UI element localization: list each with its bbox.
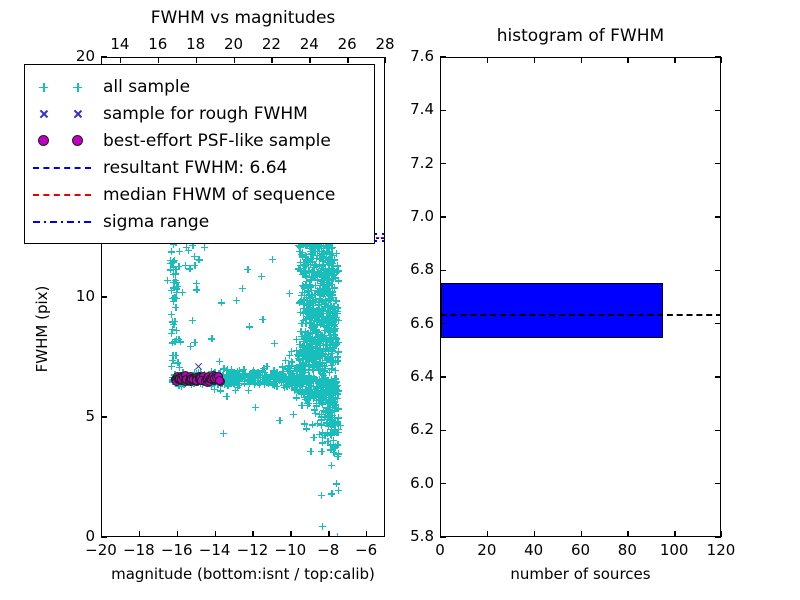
scatter-point-all-sample — [246, 380, 253, 387]
scatter-point-all-sample — [318, 399, 325, 406]
y-tick-label-left: 7.4 — [390, 100, 434, 118]
legend-item-label: best-effort PSF-like sample — [103, 131, 331, 151]
scatter-point-all-sample — [269, 256, 276, 263]
plus-marker-icon — [25, 76, 103, 98]
scatter-point-all-sample — [244, 266, 251, 273]
scatter-point-all-sample — [314, 252, 321, 259]
dashed-line-icon — [25, 157, 103, 179]
legend-item-label: all sample — [103, 77, 190, 97]
scatter-point-all-sample — [216, 358, 223, 365]
scatter-point-all-sample — [172, 270, 179, 277]
x-tick-label-bottom: 120 — [699, 541, 743, 559]
x-tick-bottom — [366, 531, 367, 537]
legend-item: resultant FWHM: 6.64 — [25, 154, 374, 181]
scatter-point-all-sample — [298, 320, 305, 327]
x-tick-top — [627, 57, 628, 63]
x-tick-top — [487, 57, 488, 63]
left-plot-title: FWHM vs magnitudes — [101, 8, 385, 28]
x-tick-top — [721, 57, 722, 63]
scatter-point-all-sample — [318, 492, 325, 499]
scatter-point-all-sample — [324, 438, 331, 445]
scatter-point-all-sample — [170, 321, 177, 328]
scatter-point-all-sample — [218, 299, 225, 306]
x-tick-label-bottom: 80 — [605, 541, 649, 559]
y-tick-label-left: 5 — [53, 407, 95, 425]
scatter-point-all-sample — [246, 323, 253, 330]
scatter-point-all-sample — [299, 252, 306, 259]
x-tick-top — [196, 57, 197, 63]
scatter-point-all-sample — [324, 413, 331, 420]
dash-dot-line-icon — [25, 211, 103, 233]
x-tick-bottom — [290, 531, 291, 537]
scatter-point-all-sample — [311, 407, 318, 414]
scatter-point-all-sample — [233, 297, 240, 304]
scatter-point-all-sample — [303, 425, 310, 432]
scatter-point-all-sample — [193, 280, 200, 287]
scatter-point-all-sample — [334, 533, 341, 536]
scatter-point-all-sample — [225, 376, 232, 383]
scatter-point-all-sample — [307, 448, 314, 455]
legend-item-label: resultant FWHM: 6.64 — [103, 158, 287, 178]
scatter-point-all-sample — [335, 487, 342, 494]
x-tick-bottom — [581, 531, 582, 537]
x-tick-bottom — [252, 531, 253, 537]
y-tick-right — [715, 376, 721, 377]
scatter-point-all-sample — [223, 393, 230, 400]
x-tick-bottom — [674, 531, 675, 537]
scatter-point-all-sample — [326, 389, 333, 396]
y-tick-label-left: 0 — [53, 527, 95, 545]
scatter-point-all-sample — [236, 367, 243, 374]
scatter-point-all-sample — [191, 253, 198, 260]
scatter-point-all-sample — [260, 376, 267, 383]
x-tick-label-bottom: 40 — [512, 541, 556, 559]
scatter-point-all-sample — [302, 272, 309, 279]
x-tick-bottom — [215, 531, 216, 537]
scatter-point-all-sample — [174, 283, 181, 290]
circle-marker-icon — [25, 130, 103, 152]
y-tick-right — [715, 163, 721, 164]
scatter-point-all-sample — [292, 379, 299, 386]
right-plot-xlabel: number of sources — [440, 565, 721, 583]
y-tick-right — [715, 483, 721, 484]
y-tick-right — [715, 430, 721, 431]
scatter-point-all-sample — [231, 377, 238, 384]
x-tick-bottom — [721, 531, 722, 537]
scatter-point-all-sample — [326, 248, 333, 255]
scatter-point-all-sample — [318, 448, 325, 455]
scatter-point-all-sample — [258, 273, 265, 280]
x-tick-top — [347, 57, 348, 63]
scatter-point-all-sample — [263, 363, 270, 370]
scatter-point-all-sample — [315, 312, 322, 319]
legend-item-label: median FHWM of sequence — [103, 185, 335, 205]
figure-canvas: FWHM vs magnitudes FWHM (pix) magnitude … — [0, 0, 800, 600]
x-tick-label-bottom: 60 — [559, 541, 603, 559]
legend-box: all samplesample for rough FWHMbest-effo… — [24, 64, 375, 244]
y-tick-right — [715, 323, 721, 324]
y-tick-right — [715, 110, 721, 111]
scatter-point-all-sample — [304, 287, 311, 294]
scatter-point-all-sample — [307, 382, 314, 389]
scatter-point-all-sample — [201, 244, 208, 251]
y-tick-left — [440, 430, 446, 431]
scatter-point-all-sample — [334, 358, 341, 365]
scatter-point-all-sample — [307, 258, 314, 265]
scatter-point-rough-fwhm — [195, 362, 203, 370]
scatter-point-all-sample — [301, 377, 308, 384]
y-tick-left — [440, 163, 446, 164]
scatter-point-all-sample — [168, 248, 175, 255]
x-tick-top — [158, 57, 159, 63]
y-tick-label-left: 6.0 — [390, 474, 434, 492]
scatter-point-all-sample — [315, 361, 322, 368]
right-plot-title: histogram of FWHM — [440, 26, 721, 46]
x-tick-top — [385, 57, 386, 63]
scatter-point-all-sample — [239, 285, 246, 292]
dashed-line-icon — [25, 184, 103, 206]
y-tick-left — [440, 110, 446, 111]
y-tick-label-left: 7.6 — [390, 47, 434, 65]
y-tick-label-left: 6.8 — [390, 260, 434, 278]
x-tick-top — [581, 57, 582, 63]
scatter-point-all-sample — [290, 411, 297, 418]
x-tick-bottom — [328, 531, 329, 537]
scatter-point-all-sample — [328, 422, 335, 429]
y-tick-left — [101, 296, 107, 297]
y-tick-label-left: 6.6 — [390, 314, 434, 332]
x-tick-label-bottom: −6 — [344, 541, 388, 559]
scatter-point-all-sample — [286, 290, 293, 297]
scatter-point-all-sample — [326, 406, 333, 413]
y-tick-left — [440, 483, 446, 484]
x-tick-label-bottom: 100 — [652, 541, 696, 559]
right-plot-area — [441, 58, 720, 536]
y-tick-label-left: 6.2 — [390, 420, 434, 438]
y-tick-left — [101, 416, 107, 417]
scatter-point-all-sample — [234, 384, 241, 391]
x-tick-top — [674, 57, 675, 63]
x-tick-bottom — [627, 531, 628, 537]
scatter-point-all-sample — [252, 404, 259, 411]
scatter-point-all-sample — [208, 335, 215, 342]
scatter-point-all-sample — [186, 265, 193, 272]
y-tick-label-left: 20 — [53, 47, 95, 65]
scatter-point-all-sample — [304, 402, 311, 409]
y-tick-left — [440, 376, 446, 377]
right-plot-axes — [440, 57, 721, 537]
scatter-point-all-sample — [176, 364, 183, 371]
y-tick-right — [715, 216, 721, 217]
y-tick-left — [101, 536, 107, 537]
scatter-point-all-sample — [191, 339, 198, 346]
scatter-point-all-sample — [327, 302, 334, 309]
x-tick-bottom — [534, 531, 535, 537]
scatter-point-all-sample — [314, 385, 321, 392]
x-tick-top — [271, 57, 272, 63]
x-marker-icon — [25, 103, 103, 125]
scatter-point-all-sample — [171, 294, 178, 301]
scatter-point-all-sample — [280, 368, 287, 375]
scatter-point-all-sample — [296, 299, 303, 306]
scatter-point-all-sample — [335, 450, 342, 457]
scatter-point-all-sample — [220, 430, 227, 437]
scatter-point-all-sample — [318, 421, 325, 428]
scatter-point-all-sample — [299, 356, 306, 363]
scatter-point-all-sample — [282, 357, 289, 364]
scatter-point-all-sample — [329, 341, 336, 348]
x-tick-top — [120, 57, 121, 63]
legend-item: sigma range — [25, 208, 374, 235]
y-tick-left — [101, 56, 107, 57]
legend-item-label: sample for rough FWHM — [103, 104, 308, 124]
scatter-point-all-sample — [324, 322, 331, 329]
scatter-point-all-sample — [176, 248, 183, 255]
scatter-point-all-sample — [310, 434, 317, 441]
left-plot-xlabel: magnitude (bottom:isnt / top:calib) — [60, 565, 426, 583]
scatter-point-all-sample — [333, 480, 340, 487]
scatter-point-all-sample — [189, 317, 196, 324]
x-tick-top — [309, 57, 310, 63]
legend-item: best-effort PSF-like sample — [25, 127, 374, 154]
scatter-point-all-sample — [300, 259, 307, 266]
scatter-point-all-sample — [250, 367, 257, 374]
y-tick-left — [440, 323, 446, 324]
scatter-point-all-sample — [332, 375, 339, 382]
scatter-point-all-sample — [337, 422, 344, 429]
y-tick-label-left: 7.2 — [390, 154, 434, 172]
y-tick-label-left: 5.8 — [390, 527, 434, 545]
histogram-bar — [441, 283, 663, 338]
y-tick-label-left: 7.0 — [390, 207, 434, 225]
scatter-point-psf-like — [215, 376, 224, 385]
y-tick-right — [715, 536, 721, 537]
y-tick-left — [440, 270, 446, 271]
scatter-point-all-sample — [325, 279, 332, 286]
x-tick-bottom — [177, 531, 178, 537]
scatter-point-all-sample — [278, 378, 285, 385]
y-tick-left — [440, 216, 446, 217]
scatter-point-all-sample — [326, 269, 333, 276]
x-tick-label-bottom: 20 — [465, 541, 509, 559]
y-tick-label-left: 10 — [53, 287, 95, 305]
scatter-point-all-sample — [325, 261, 332, 268]
scatter-point-all-sample — [307, 329, 314, 336]
y-tick-left — [440, 536, 446, 537]
x-tick-top — [234, 57, 235, 63]
x-tick-bottom — [139, 531, 140, 537]
x-tick-top — [534, 57, 535, 63]
scatter-point-all-sample — [164, 277, 171, 284]
scatter-point-all-sample — [314, 344, 321, 351]
scatter-point-all-sample — [271, 340, 278, 347]
scatter-point-all-sample — [170, 258, 177, 265]
scatter-point-all-sample — [172, 304, 179, 311]
legend-item: median FHWM of sequence — [25, 181, 374, 208]
scatter-point-all-sample — [259, 316, 266, 323]
x-tick-bottom — [487, 531, 488, 537]
y-tick-label-left: 6.4 — [390, 367, 434, 385]
scatter-point-all-sample — [306, 298, 313, 305]
scatter-point-all-sample — [171, 338, 178, 345]
scatter-point-all-sample — [332, 367, 339, 374]
left-plot-ylabel: FWHM (pix) — [33, 249, 51, 409]
scatter-point-all-sample — [314, 288, 321, 295]
scatter-point-all-sample — [314, 353, 321, 360]
y-tick-right — [715, 270, 721, 271]
scatter-point-all-sample — [276, 417, 283, 424]
y-tick-left — [440, 56, 446, 57]
scatter-point-all-sample — [319, 523, 326, 530]
legend-item: all sample — [25, 73, 374, 100]
scatter-point-all-sample — [328, 462, 335, 469]
legend-item-label: sigma range — [103, 212, 209, 232]
scatter-point-all-sample — [193, 286, 200, 293]
y-tick-right — [715, 56, 721, 57]
legend-item: sample for rough FWHM — [25, 100, 374, 127]
x-tick-top — [440, 57, 441, 63]
scatter-point-all-sample — [172, 352, 179, 359]
resultant-fwhm-dashed-line — [441, 314, 720, 316]
